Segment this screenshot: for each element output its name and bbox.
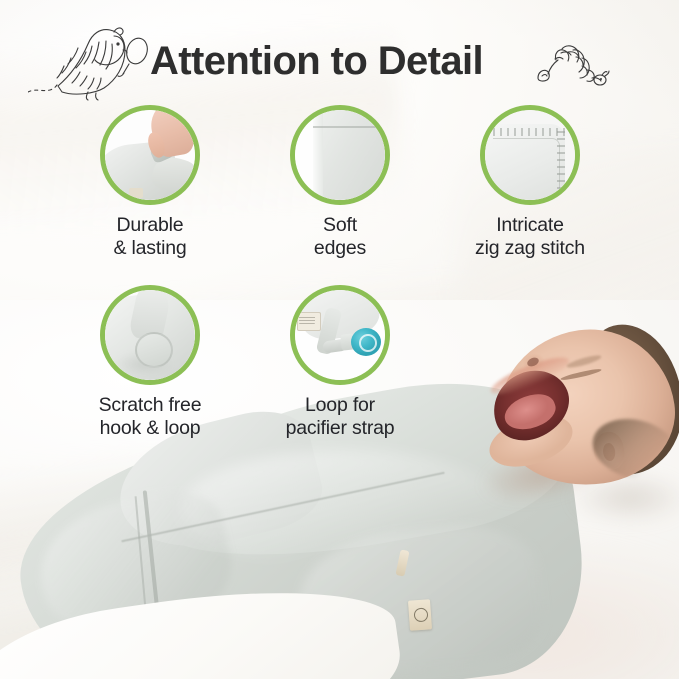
page-title: Attention to Detail bbox=[150, 32, 540, 90]
feature-hook-and-loop[interactable]: Scratch free hook & loop bbox=[55, 285, 245, 440]
feature-caption-line1: Loop for bbox=[245, 394, 435, 417]
product-feature-image: Attention to Detail bbox=[0, 0, 679, 679]
feature-caption-line2: hook & loop bbox=[55, 417, 245, 440]
feature-zig-zag-stitch[interactable]: Intricate zig zag stitch bbox=[435, 105, 625, 260]
feature-caption-line2: edges bbox=[245, 237, 435, 260]
pacifier-strap-loop-photo bbox=[295, 290, 385, 380]
feature-durable-circle[interactable] bbox=[100, 105, 200, 205]
hand-pulling-swaddle-photo bbox=[105, 110, 195, 200]
feature-grid: Durable & lasting Soft edges bbox=[0, 100, 679, 450]
feature-pacifier-loop-circle[interactable] bbox=[290, 285, 390, 385]
feature-zig-zag-stitch-circle[interactable] bbox=[480, 105, 580, 205]
feature-durable-caption: Durable & lasting bbox=[55, 214, 245, 260]
feature-caption-line2: pacifier strap bbox=[245, 417, 435, 440]
brand-label-tag bbox=[408, 599, 432, 630]
soft-fabric-edge-photo bbox=[295, 110, 385, 200]
feature-caption-line1: Soft bbox=[245, 214, 435, 237]
feature-pacifier-loop[interactable]: Loop for pacifier strap bbox=[245, 285, 435, 440]
feature-caption-line1: Durable bbox=[55, 214, 245, 237]
feature-soft-edges[interactable]: Soft edges bbox=[245, 105, 435, 260]
feature-hook-and-loop-caption: Scratch free hook & loop bbox=[55, 394, 245, 440]
hedgehog-with-magnifier-icon bbox=[28, 14, 153, 102]
feature-durable[interactable]: Durable & lasting bbox=[55, 105, 245, 260]
feature-pacifier-loop-caption: Loop for pacifier strap bbox=[245, 394, 435, 440]
feature-caption-line2: zig zag stitch bbox=[435, 237, 625, 260]
header: Attention to Detail bbox=[0, 0, 679, 100]
feature-soft-edges-caption: Soft edges bbox=[245, 214, 435, 260]
feature-caption-line1: Scratch free bbox=[55, 394, 245, 417]
feature-soft-edges-circle[interactable] bbox=[290, 105, 390, 205]
feature-hook-and-loop-circle[interactable] bbox=[100, 285, 200, 385]
feature-caption-line2: & lasting bbox=[55, 237, 245, 260]
caterpillar-icon bbox=[532, 36, 610, 88]
feature-zig-zag-stitch-caption: Intricate zig zag stitch bbox=[435, 214, 625, 260]
hook-and-loop-closure-photo bbox=[105, 290, 195, 380]
feature-caption-line1: Intricate bbox=[435, 214, 625, 237]
zig-zag-stitched-corner-photo bbox=[485, 110, 575, 200]
